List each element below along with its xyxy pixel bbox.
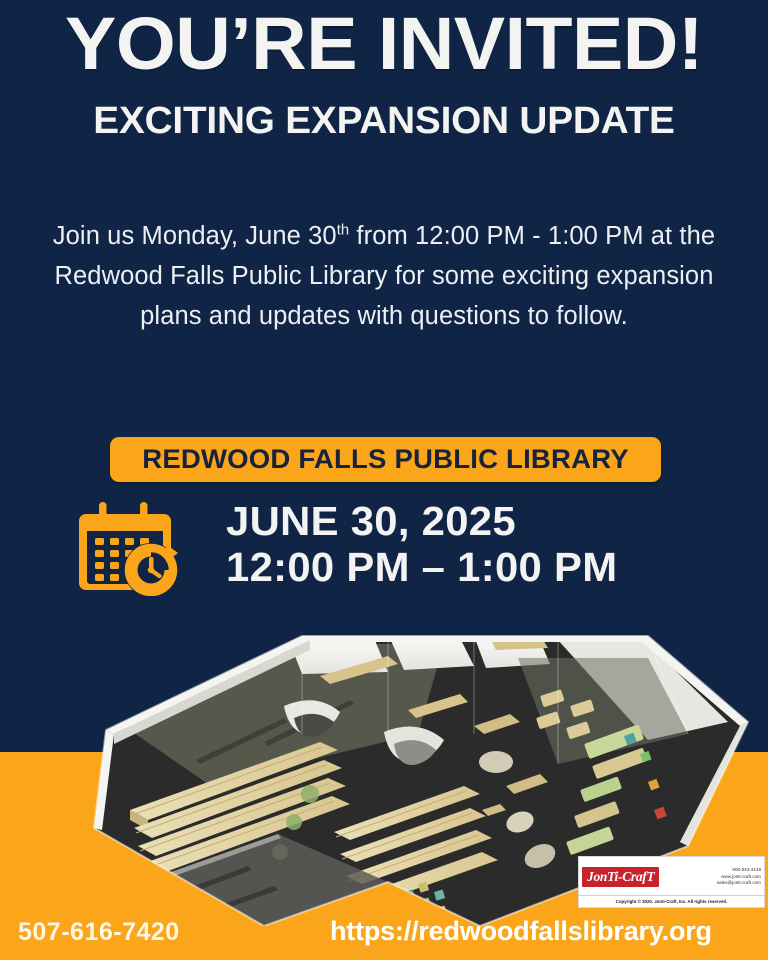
event-date: JUNE 30, 2025 (226, 498, 617, 544)
event-time: 12:00 PM – 1:00 PM (226, 544, 617, 590)
logo-website: www.jonti-craft.com (721, 874, 761, 879)
logo-top-row: JonTi-CrafT 800-543-4148 www.jonti-craft… (579, 857, 764, 895)
description-part-one: Join us Monday, June 30 (53, 222, 337, 250)
event-datetime-text: JUNE 30, 2025 12:00 PM – 1:00 PM (226, 498, 617, 590)
page-subtitle: EXCITING EXPANSION UPDATE (0, 100, 768, 142)
jonti-craft-logo: JonTi-CrafT 800-543-4148 www.jonti-craft… (578, 856, 765, 908)
website-url[interactable]: https://redwoodfallslibrary.org (330, 916, 712, 947)
contact-phone: 507-616-7420 (18, 918, 180, 947)
logo-copyright: Copyright © 2020. Jonti-Craft, Inc. All … (579, 895, 764, 907)
venue-name: REDWOOD FALLS PUBLIC LIBRARY (142, 444, 629, 475)
page-title: YOU’RE INVITED! (0, 6, 768, 82)
venue-banner: REDWOOD FALLS PUBLIC LIBRARY (110, 437, 661, 482)
event-description: Join us Monday, June 30th from 12:00 PM … (24, 216, 744, 336)
logo-phone: 800-543-4148 (732, 867, 761, 872)
calendar-clock-icon (78, 500, 182, 596)
logo-email: sales@jonti-craft.com (717, 880, 761, 885)
logo-contact-info: 800-543-4148 www.jonti-craft.com sales@j… (665, 867, 761, 886)
jonti-craft-wordmark: JonTi-CrafT (582, 867, 659, 887)
event-datetime-row: JUNE 30, 2025 12:00 PM – 1:00 PM (78, 498, 678, 598)
date-ordinal-suffix: th (337, 223, 350, 239)
invitation-poster: YOU’RE INVITED! EXCITING EXPANSION UPDAT… (0, 0, 768, 960)
